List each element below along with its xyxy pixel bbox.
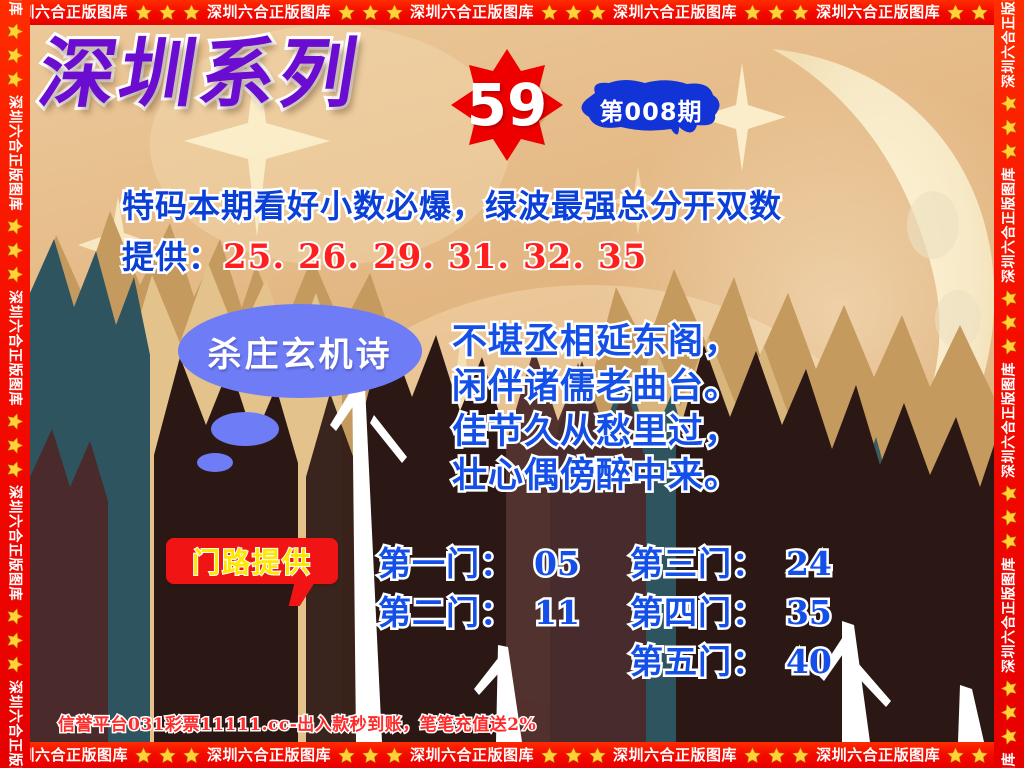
border-right: 深圳六合正版图库深圳六合正版图库深圳六合正版图库深圳六合正版图库深圳六合正版图库 — [994, 0, 1024, 768]
star-icon — [7, 218, 24, 235]
star-icon — [7, 632, 24, 649]
badge-number-text: 59 — [467, 76, 548, 134]
star-icon — [386, 4, 403, 21]
watermark-text: 深圳六合正版图库 — [613, 5, 737, 20]
star-icon — [768, 747, 785, 764]
thought-dot-small — [197, 453, 233, 472]
marquee-left: 深圳六合正版图库深圳六合正版图库深圳六合正版图库深圳六合正版图库深圳六合正版图库 — [7, 0, 24, 768]
star-icon — [1001, 704, 1018, 721]
star-icon — [768, 4, 785, 21]
star-icon — [947, 4, 964, 21]
watermark-text: 深圳六合正版图库 — [8, 680, 22, 768]
provide-label: 提供： — [122, 232, 221, 278]
footer-promo-text: 信誉平台031彩票11111.cc-出入款秒到账，笔笔充值送2% — [58, 710, 536, 735]
gates-column-right: 第三门： 24 第四门： 35 第五门： 40 — [630, 540, 832, 686]
gate-value: 35 — [786, 589, 832, 638]
marquee-right: 深圳六合正版图库深圳六合正版图库深圳六合正版图库深圳六合正版图库深圳六合正版图库 — [1001, 0, 1018, 768]
star-icon — [1001, 728, 1018, 745]
star-icon — [971, 4, 988, 21]
star-icon — [1001, 143, 1018, 160]
watermark-text: 深圳六合正版图库 — [816, 748, 940, 763]
gate-row: 第四门： 35 — [630, 589, 832, 638]
gate-label: 第四门： — [630, 589, 766, 638]
gate-label: 第一门： — [378, 540, 514, 589]
poem-line-2: 闲伴诸儒老曲台。 — [452, 365, 740, 410]
star-icon — [7, 461, 24, 478]
watermark-text: 深圳六合正版图库 — [1002, 0, 1016, 88]
thought-dot-large — [211, 412, 279, 446]
star-icon — [7, 656, 24, 673]
star-icon — [1001, 533, 1018, 550]
star-icon — [1001, 314, 1018, 331]
marquee-top: 深圳六合正版图库深圳六合正版图库深圳六合正版图库深圳六合正版图库深圳六合正版图库 — [0, 4, 1016, 21]
star-icon — [947, 747, 964, 764]
star-icon — [7, 413, 24, 430]
watermark-text: 深圳六合正版图库 — [1002, 167, 1016, 283]
star-icon — [744, 747, 761, 764]
border-top: 深圳六合正版图库深圳六合正版图库深圳六合正版图库深圳六合正版图库深圳六合正版图库 — [0, 0, 1024, 25]
gate-row: 第一门： 05 — [378, 540, 580, 589]
poem-text: 不堪丞相延东阁， 闲伴诸儒老曲台。 佳节久从愁里过， 壮心偶傍醉中来。 — [452, 320, 740, 499]
star-icon — [589, 4, 606, 21]
star-icon — [7, 71, 24, 88]
poem-title-bubble: 杀庄玄机诗 — [178, 304, 422, 398]
watermark-text: 深圳六合正版图库 — [613, 748, 737, 763]
gate-value: 24 — [786, 540, 832, 589]
star-icon — [541, 747, 558, 764]
gates-badge: 门路提供 — [166, 538, 338, 584]
star-icon — [386, 747, 403, 764]
star-icon — [159, 747, 176, 764]
watermark-text: 深圳六合正版图库 — [816, 5, 940, 20]
star-icon — [159, 4, 176, 21]
number-badge: 59 — [451, 49, 563, 161]
poster-canvas: 深圳系列 59 第008期 特码本期看好小数必爆，绿波最强总分开双数 提供： 2… — [0, 0, 1024, 768]
star-icon — [135, 747, 152, 764]
gates-column-left: 第一门： 05 第二门： 11 — [378, 540, 580, 686]
gate-value: 05 — [534, 540, 580, 589]
border-bottom: 深圳六合正版图库深圳六合正版图库深圳六合正版图库深圳六合正版图库深圳六合正版图库 — [0, 742, 1024, 768]
gate-label: 第五门： — [630, 638, 766, 687]
star-icon — [565, 747, 582, 764]
star-icon — [7, 437, 24, 454]
watermark-text: 深圳六合正版图库 — [207, 5, 331, 20]
headline-text: 特码本期看好小数必爆，绿波最强总分开双数 — [122, 186, 782, 227]
watermark-text: 深圳六合正版图库 — [410, 748, 534, 763]
star-icon — [183, 747, 200, 764]
gate-label: 第三门： — [630, 540, 766, 589]
issue-bubble: 第008期 — [575, 79, 727, 139]
gate-row: 第二门： 11 — [378, 589, 580, 638]
star-icon — [589, 747, 606, 764]
star-icon — [7, 23, 24, 40]
star-icon — [7, 266, 24, 283]
page-title: 深圳系列 — [34, 36, 366, 112]
star-icon — [7, 608, 24, 625]
gates-table: 第一门： 05 第二门： 11 第三门： 24 第四门： 35 第五门： 40 — [378, 540, 832, 686]
watermark-text: 深圳六合正版图库 — [207, 748, 331, 763]
watermark-text: 深圳六合正版图库 — [8, 0, 22, 16]
watermark-text: 深圳六合正版图库 — [8, 95, 22, 211]
border-left: 深圳六合正版图库深圳六合正版图库深圳六合正版图库深圳六合正版图库深圳六合正版图库 — [0, 0, 30, 768]
star-icon — [338, 747, 355, 764]
star-icon — [1001, 119, 1018, 136]
star-icon — [1001, 485, 1018, 502]
watermark-text: 深圳六合正版图库 — [1002, 557, 1016, 673]
star-icon — [1001, 290, 1018, 307]
provide-row: 提供： 25. 26. 29. 31. 32. 35 — [122, 232, 647, 278]
watermark-text: 深圳六合正版图库 — [8, 290, 22, 406]
star-icon — [7, 242, 24, 259]
star-icon — [135, 4, 152, 21]
star-icon — [1001, 338, 1018, 355]
star-icon — [7, 47, 24, 64]
poem-line-1: 不堪丞相延东阁， — [452, 320, 740, 365]
star-icon — [183, 4, 200, 21]
poem-line-3: 佳节久从愁里过， — [452, 410, 740, 455]
star-icon — [565, 4, 582, 21]
gate-row: 第三门： 24 — [630, 540, 832, 589]
issue-label: 第008期 — [599, 92, 702, 127]
watermark-text: 深圳六合正版图库 — [1002, 752, 1016, 768]
poem-line-4: 壮心偶傍醉中来。 — [452, 454, 740, 499]
star-icon — [744, 4, 761, 21]
marquee-bottom: 深圳六合正版图库深圳六合正版图库深圳六合正版图库深圳六合正版图库深圳六合正版图库 — [0, 747, 1016, 764]
gate-value: 11 — [534, 589, 580, 638]
poem-title-label: 杀庄玄机诗 — [208, 327, 393, 376]
star-icon — [338, 4, 355, 21]
gate-value: 40 — [786, 638, 832, 687]
star-icon — [362, 4, 379, 21]
star-icon — [971, 747, 988, 764]
gate-label: 第二门： — [378, 589, 514, 638]
star-icon — [362, 747, 379, 764]
star-icon — [1001, 95, 1018, 112]
watermark-text: 深圳六合正版图库 — [410, 5, 534, 20]
watermark-text: 深圳六合正版图库 — [1002, 362, 1016, 478]
star-icon — [1001, 509, 1018, 526]
gates-badge-label: 门路提供 — [192, 541, 312, 581]
watermark-text: 深圳六合正版图库 — [8, 485, 22, 601]
provide-numbers: 25. 26. 29. 31. 32. 35 — [223, 237, 647, 277]
star-icon — [1001, 680, 1018, 697]
gate-row: 第五门： 40 — [630, 638, 832, 687]
star-icon — [792, 4, 809, 21]
star-icon — [792, 747, 809, 764]
star-icon — [541, 4, 558, 21]
